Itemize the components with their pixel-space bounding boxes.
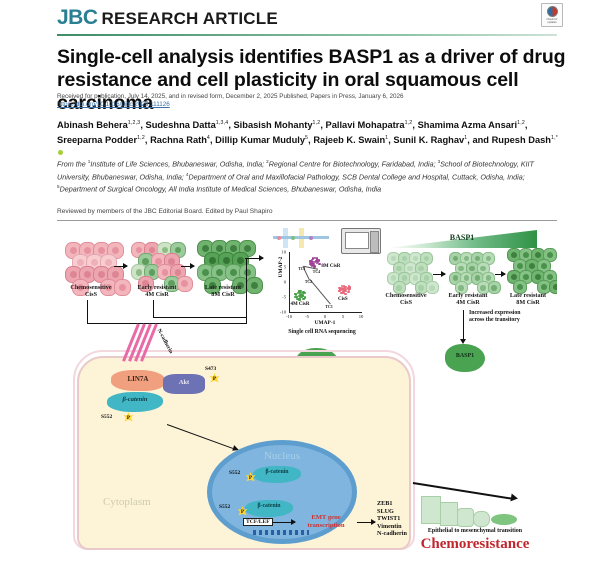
chemoresistance-label: Chemoresistance [395, 536, 555, 553]
cell-nucleus [464, 275, 469, 280]
label-late-resistant-right: Late resistant 8M CisR [497, 292, 557, 307]
author-name[interactable]: Sunil K. Raghav [393, 135, 464, 145]
author-name[interactable]: Rachna Rath [150, 135, 207, 145]
label-late-resistant: Late resistant 8M CisR [187, 284, 259, 299]
tcf-lef-box: TCF/LEF [243, 518, 273, 526]
cell-nucleus [453, 275, 458, 280]
cell-nucleus [396, 266, 401, 271]
cell-nucleus [112, 247, 119, 254]
akt-label: Akt [163, 379, 205, 386]
reviewed-by: Reviewed by members of the JBC Editorial… [57, 207, 557, 216]
umap-x-tick: 0 [324, 314, 326, 319]
dna-strand-icon [253, 530, 309, 535]
author-affiliation-marker: 1 [464, 135, 467, 141]
route-line-1 [87, 300, 88, 324]
author-affiliation-marker: 1,* [551, 135, 558, 141]
cell-nucleus [511, 252, 517, 258]
cell-nucleus [418, 266, 423, 271]
umap-caption: Single cell RNA sequencing [267, 329, 377, 335]
author-affiliation-marker: 1,2 [137, 135, 145, 141]
cell-nucleus [136, 269, 143, 276]
cell-nucleus [511, 274, 517, 280]
label-chemosensitive-right: Chemosensitive CisS [375, 292, 437, 307]
arrow-green-2 [495, 274, 505, 275]
arrow-to-emt-transcription [273, 522, 295, 523]
route-line-4 [153, 317, 247, 318]
cell-nucleus [230, 245, 237, 252]
epithelial-cell-2 [440, 502, 458, 526]
author-name[interactable]: Rajeeb K. Swain [313, 135, 385, 145]
basp1-node-right-label: BASP1 [445, 353, 485, 359]
author-affiliation-marker: 4 [207, 135, 210, 141]
transitional-cell-1 [457, 508, 474, 527]
umap-data-point [304, 296, 306, 298]
umap-y-tick: -10 [275, 310, 286, 315]
author-affiliation-marker: 1,2,3 [128, 120, 141, 126]
basp1-gradient-label: BASP1 [387, 233, 537, 242]
masthead: JBCRESEARCH ARTICLE [57, 6, 557, 32]
cell-nucleus [480, 266, 485, 271]
masthead-divider [57, 34, 557, 36]
author-name[interactable]: Rupesh Dash [492, 135, 551, 145]
cytoplasm-label: Cytoplasm [103, 496, 151, 508]
beta-catenin-nuclear-2-label: β-catenin [245, 503, 293, 509]
cell-nucleus [216, 245, 223, 252]
publication-dates: Received for publication, July 14, 2025,… [57, 93, 557, 101]
umap-cluster-label: 4M CisR [290, 302, 309, 307]
cell-nucleus [70, 247, 77, 254]
umap-data-point [317, 261, 319, 263]
umap-data-point [302, 291, 304, 293]
route-line-2 [153, 300, 154, 318]
author-affiliation-marker: 1,2 [517, 120, 525, 126]
increased-expression-note: Increased expression across the transito… [469, 310, 557, 324]
cell-nucleus [175, 269, 182, 276]
author-affiliation-marker: 5 [305, 135, 308, 141]
umap-x-axis-label: UMAP-1 [289, 320, 361, 326]
mesenchymal-cell [491, 514, 517, 525]
cell-nucleus [396, 285, 401, 290]
affiliation-text: Regional Centre for Biotechnology, Farid… [269, 159, 438, 168]
cell-nucleus [475, 275, 480, 280]
label-chemosensitive: Chemosensitive CisS [57, 284, 127, 299]
cell-nucleus [553, 284, 557, 290]
cell-nucleus [458, 285, 463, 290]
author-name[interactable]: Shamima Azma Ansari [418, 120, 518, 130]
umap-data-point [314, 257, 316, 259]
umap-y-tick: 10 [275, 250, 286, 255]
cell-nucleus [486, 275, 491, 280]
arrow-4m-to-8m [181, 266, 194, 267]
cell-nucleus [407, 266, 412, 271]
crossmark-icon [547, 6, 558, 17]
emt-gene-item: Vimentin [377, 523, 407, 531]
arrow-green-1 [433, 274, 445, 275]
s552-site-label-nuc-2: S552 [219, 504, 230, 510]
author-name[interactable]: Sudeshna Datta [146, 120, 216, 130]
s473-site-label: S473 [205, 366, 216, 372]
cell-nucleus [458, 266, 463, 271]
graphical-abstract: Chemosensitive CisS Early resistant 4M C… [57, 228, 557, 558]
author-name[interactable]: Pallavi Mohapatra [326, 120, 405, 130]
umap-x-tick: 10 [359, 314, 364, 319]
transitional-cell-2 [473, 511, 490, 527]
cell-nucleus [547, 252, 553, 258]
umap-x-tick: -5 [305, 314, 309, 319]
author-affiliation-marker: 1 [385, 135, 388, 141]
umap-y-tick: 5 [275, 265, 286, 270]
author-name[interactable]: Dillip Kumar Muduly [215, 135, 305, 145]
umap-y-tick: -5 [275, 295, 286, 300]
arrow-to-emt-genes [357, 522, 375, 523]
author-affiliation-marker: 1,3,4 [216, 120, 229, 126]
route-line-5 [246, 258, 247, 324]
arrow-to-umap [245, 258, 263, 259]
cell-nucleus [523, 274, 529, 280]
affiliations: From the 1Institute of Life Sciences, Bh… [57, 157, 562, 195]
affiliation-text: Institute of Life Sciences, Bhubaneswar,… [90, 159, 266, 168]
cell-nucleus [535, 252, 541, 258]
author-affiliation-marker: 1,2 [405, 120, 413, 126]
umap-data-point [342, 288, 344, 290]
umap-data-point [344, 293, 346, 295]
cell-nucleus [413, 275, 418, 280]
cell-nucleus [162, 269, 169, 276]
cell-nucleus [402, 275, 407, 280]
cell-nucleus [84, 247, 91, 254]
umap-trajectory-node-label: TC4 [313, 270, 320, 274]
doi-link[interactable]: https://doi.org/10.1016/j.jbc.2025.11112… [57, 101, 357, 109]
umap-data-point [294, 296, 296, 298]
cell-nucleus [547, 274, 553, 280]
cell-nucleus [529, 263, 535, 269]
author-name[interactable]: Sreeparna Podder [57, 135, 137, 145]
umap-y-tick: 0 [275, 280, 286, 285]
section-divider [57, 220, 557, 221]
beta-catenin-cytoplasmic-label: β-catenin [107, 396, 163, 403]
emt-gene-item: ZEB1 [377, 500, 407, 508]
crossmark-badge[interactable]: Check for updates [541, 3, 563, 27]
emt-gene-list: ZEB1SLUGTWIST1VimentinN-cadherin [377, 500, 407, 538]
arrow-cis-to-4m [114, 266, 127, 267]
article-type-label: RESEARCH ARTICLE [102, 9, 278, 29]
emt-gene-transcription-label: EMT gene transcription [297, 514, 355, 530]
jbc-logo: JBC [57, 6, 98, 30]
label-early-resistant-right: Early resistant 4M CisR [437, 292, 499, 307]
orcid-icon[interactable] [58, 150, 63, 155]
emt-gene-item: SLUG [377, 508, 407, 516]
journal-article-page: JBCRESEARCH ARTICLE Check for updates Si… [0, 0, 610, 561]
crossmark-label: Check for updates [542, 18, 562, 24]
umap-data-point [312, 261, 314, 263]
lin7a-label: LIN7A [111, 375, 165, 383]
arrow-emt-transition [413, 478, 521, 500]
author-affiliation-marker: 1,2 [313, 120, 321, 126]
emt-gene-item: TWIST1 [377, 515, 407, 523]
cell-nucleus [523, 252, 529, 258]
s552-site-label-nuc-1: S552 [229, 470, 240, 476]
cell-nucleus [541, 263, 547, 269]
umap-scatter-plot: UMAP-2 UMAP-1 Single cell RNA sequencing… [275, 250, 367, 330]
beta-catenin-nuclear-1-label: β-catenin [253, 469, 301, 475]
author-list: Abinash Behera1,2,3, Sudeshna Datta1,3,4… [57, 117, 562, 159]
cell-nucleus [418, 285, 423, 290]
cell-nucleus [202, 245, 209, 252]
umap-trajectory-node-label: TC1 [298, 267, 305, 271]
umap-trajectory-node-label: TC3 [325, 305, 332, 309]
cell-nucleus [149, 269, 156, 276]
s552-site-label-cyto: S552 [101, 414, 112, 420]
affiliation-text: Department of Surgical Oncology, All Ind… [60, 185, 382, 194]
umap-data-point [348, 285, 350, 287]
arrow-increased-expression [463, 310, 464, 340]
cell-nucleus [480, 285, 485, 290]
epithelial-cell-1 [421, 496, 441, 524]
umap-cluster-label: 8M CisR [321, 264, 340, 269]
author-name[interactable]: Abinash Behera [57, 120, 128, 130]
affiliation-text: Department of Oral and Maxillofacial Pat… [188, 172, 524, 181]
cell-nucleus [491, 285, 496, 290]
emt-caption: Epithelial to mesenchymal transition [405, 528, 545, 534]
cell-nucleus [429, 285, 434, 290]
umap-x-tick: -10 [286, 314, 292, 319]
label-early-resistant: Early resistant 4M CisR [121, 284, 193, 299]
umap-x-tick: 5 [342, 314, 344, 319]
umap-cluster-label: CisS [338, 297, 348, 302]
author-name[interactable]: Sibasish Mohanty [233, 120, 312, 130]
cell-nucleus [535, 274, 541, 280]
cell-nucleus [469, 266, 474, 271]
cell-nucleus [244, 245, 251, 252]
nucleus-label: Nucleus [207, 450, 357, 462]
cell-nucleus [424, 275, 429, 280]
cell-nucleus [517, 263, 523, 269]
umap-trajectory-node-label: TC2 [305, 280, 312, 284]
cell-nucleus [391, 275, 396, 280]
cell-nucleus [98, 247, 105, 254]
